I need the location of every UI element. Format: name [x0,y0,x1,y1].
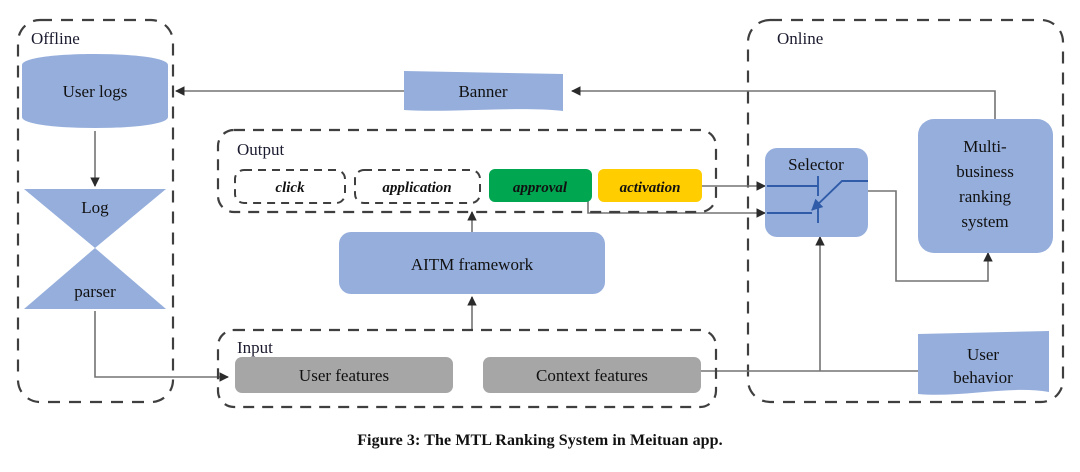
node-banner-label: Banner [458,82,507,101]
node-context-features[interactable]: Context features [483,357,701,393]
node-user-behavior[interactable]: User behavior [918,331,1049,395]
node-user-features-label: User features [299,366,389,385]
node-log-parser-label-top: Log [81,198,109,217]
connector-ranking-to-banner [572,91,995,119]
output-task-click-label: click [275,180,305,196]
node-user-logs-label: User logs [63,82,128,101]
node-aitm-framework[interactable]: AITM framework [339,232,605,294]
node-user-behavior-line-1: User [967,345,999,364]
node-user-features[interactable]: User features [235,357,453,393]
panel-online-label: Online [777,29,823,48]
output-task-approval[interactable]: approval [489,169,592,202]
figure-container: Offline Online [0,0,1080,472]
node-ranking-system-line-4: system [961,212,1008,231]
output-task-click[interactable]: click [235,170,345,203]
node-user-logs[interactable]: User logs [22,54,168,128]
node-log-parser[interactable]: Log parser [24,189,166,309]
node-aitm-framework-label: AITM framework [411,255,534,274]
group-output: Output click application approval activa… [218,130,716,212]
output-task-application[interactable]: application [355,170,480,203]
node-ranking-system-line-3: ranking [959,187,1011,206]
connector-log-parser-to-input [95,311,228,377]
panel-offline-label: Offline [31,29,80,48]
output-task-approval-label: approval [513,180,568,196]
output-task-activation-label: activation [620,180,681,196]
node-selector[interactable]: Selector [765,148,868,237]
node-user-behavior-line-2: behavior [953,368,1013,387]
output-task-activation[interactable]: activation [598,169,702,202]
group-input: Input User features Context features [218,330,716,407]
output-task-application-label: application [382,180,451,196]
node-multi-business-ranking-system[interactable]: Multi- business ranking system [918,119,1053,253]
group-input-label: Input [237,338,273,357]
node-selector-label: Selector [788,155,844,174]
node-banner[interactable]: Banner [404,71,563,111]
node-ranking-system-line-2: business [956,162,1014,181]
figure-caption: Figure 3: The MTL Ranking System in Meit… [0,432,1080,450]
group-output-label: Output [237,140,285,159]
node-ranking-system-line-1: Multi- [963,137,1007,156]
node-context-features-label: Context features [536,366,648,385]
mtl-ranking-system-diagram: Offline Online [0,0,1080,472]
node-log-parser-label-bottom: parser [74,282,116,301]
